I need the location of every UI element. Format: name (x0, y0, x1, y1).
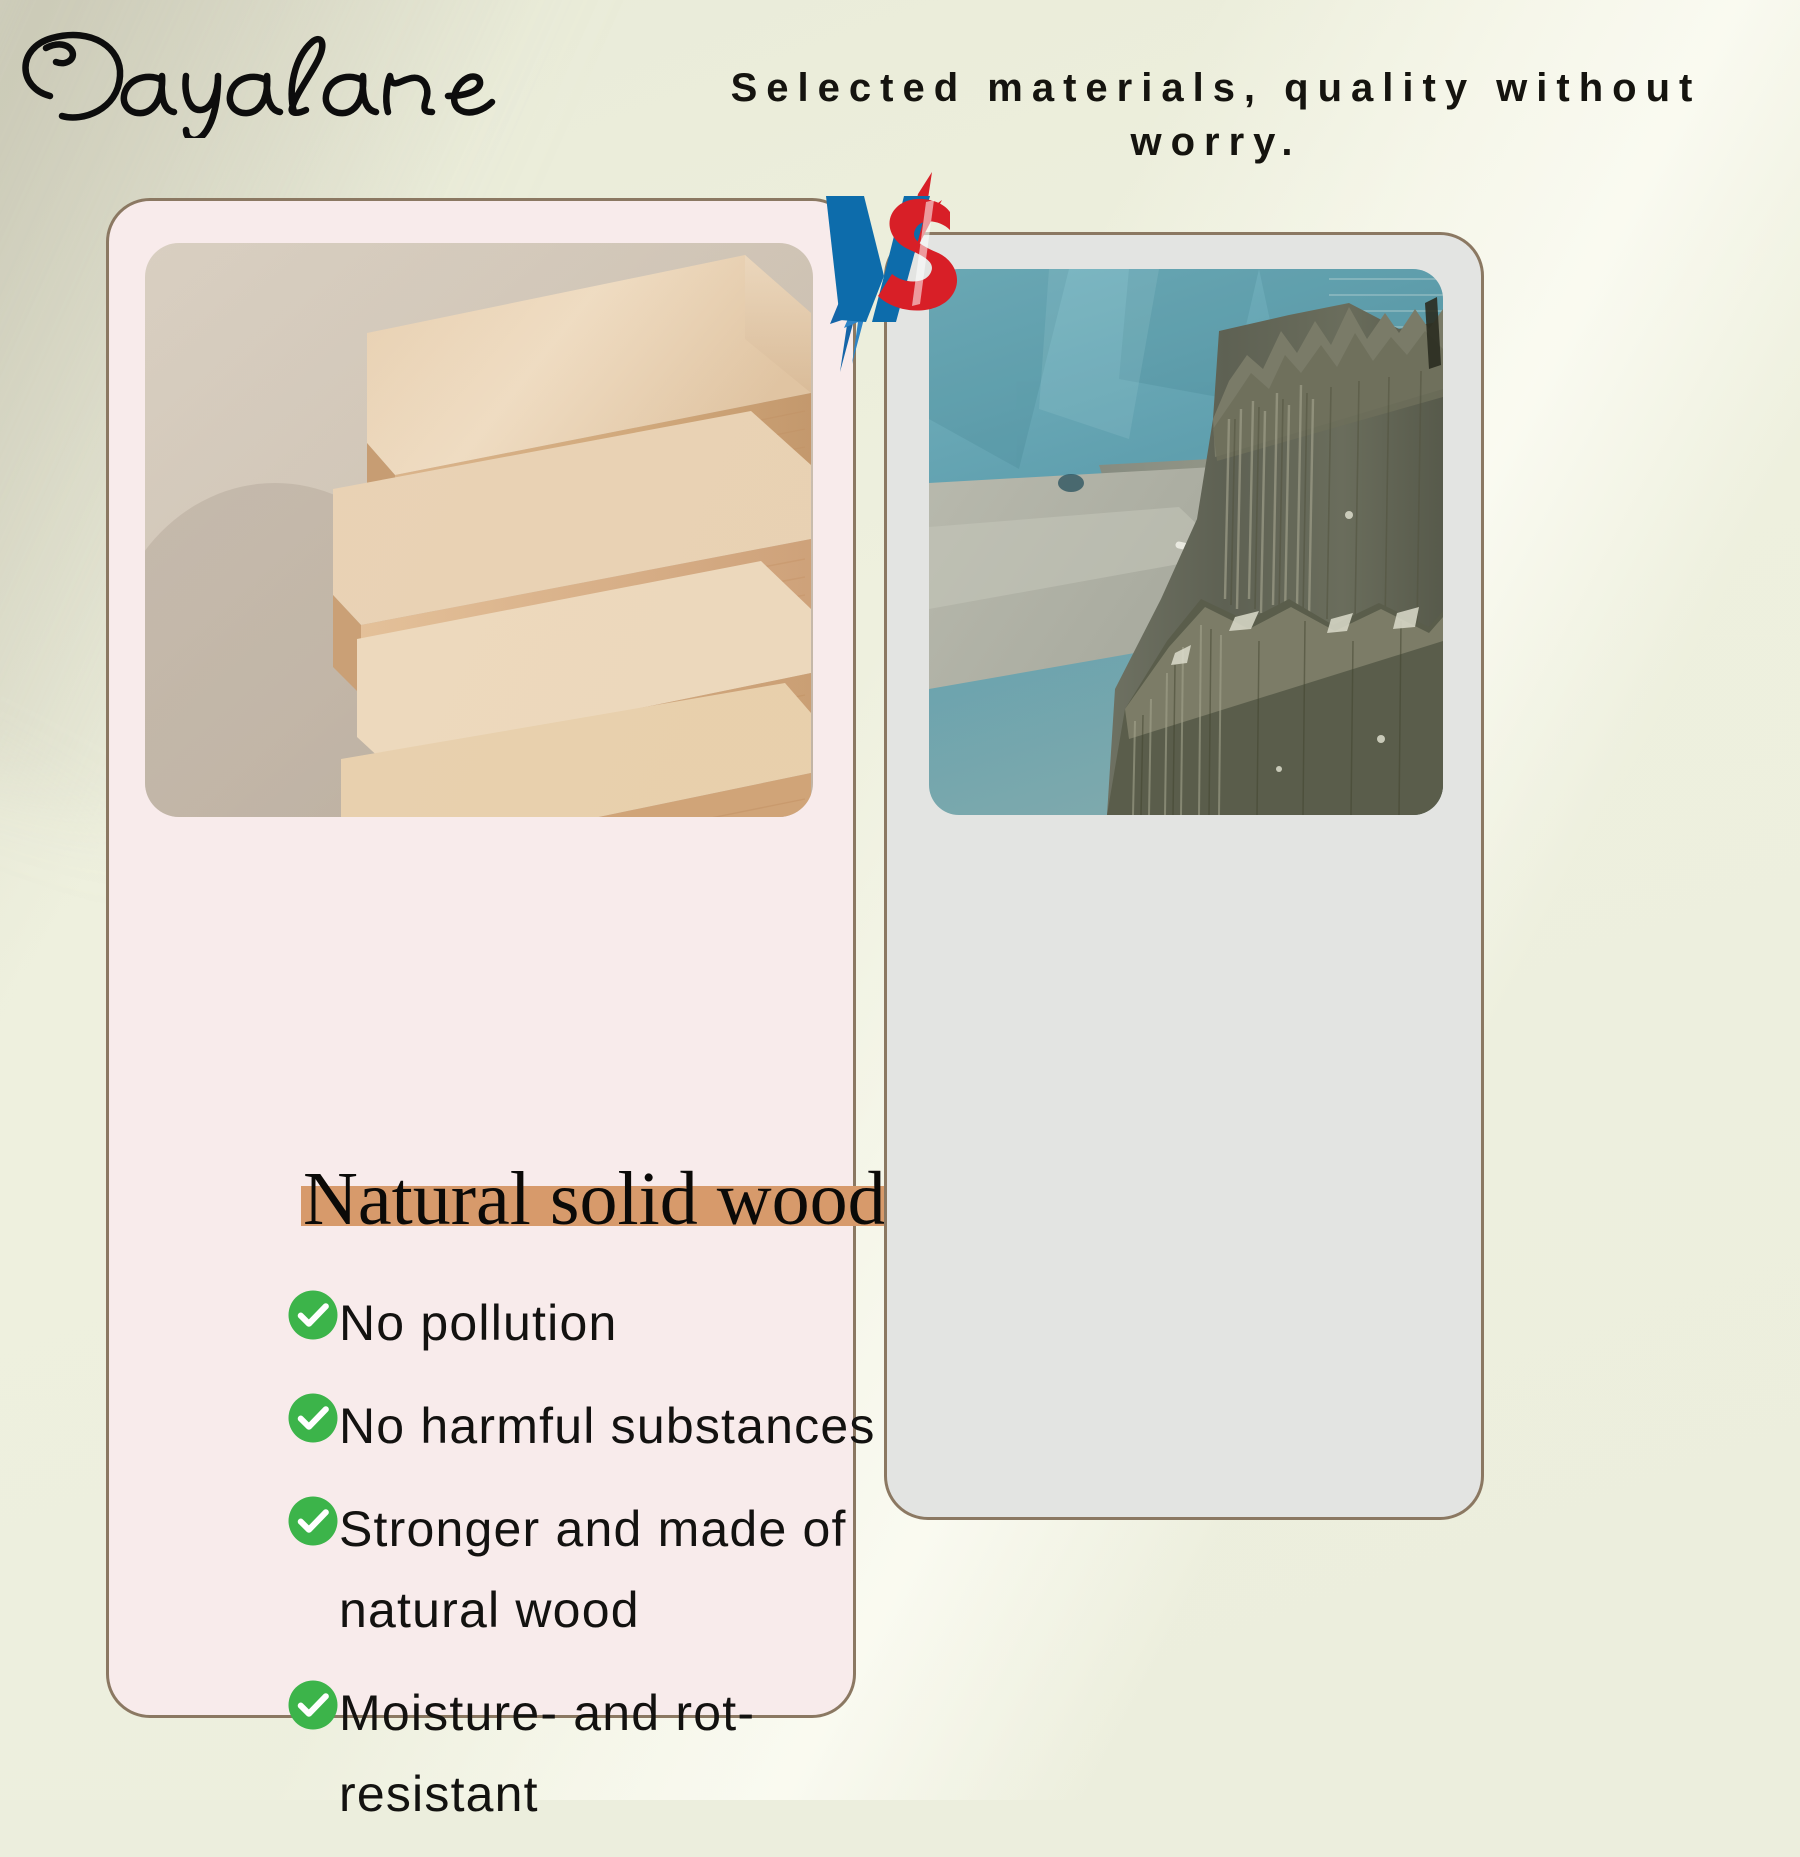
versus-lightning-badge-icon (800, 172, 980, 372)
green-check-circle-icon (285, 1390, 341, 1446)
comparison-card-synthetic-wood: Inferior synthetic woods • Fragile and p… (884, 232, 1484, 1520)
list-item-label: No pollution (339, 1283, 617, 1364)
list-item-label: Moisture- and rot-resistant (339, 1673, 945, 1835)
comparison-card-natural-wood: Natural solid wood No pollution No harmf… (106, 198, 856, 1718)
pros-list: No pollution No harmful substances Stron… (285, 1283, 945, 1857)
header-tagline: Selected materials, quality without worr… (640, 62, 1800, 169)
list-item-label: No harmful substances (339, 1386, 876, 1467)
list-item: No pollution (285, 1283, 945, 1364)
green-check-circle-icon (285, 1493, 341, 1549)
list-item: Stronger and made of natural wood (285, 1489, 945, 1651)
synthetic-wood-photo (929, 269, 1443, 815)
list-item: No harmful substances (285, 1386, 945, 1467)
list-item-label: Stronger and made of natural wood (339, 1489, 945, 1651)
list-item: Moisture- and rot-resistant (285, 1673, 945, 1835)
green-check-circle-icon (285, 1677, 341, 1733)
green-check-circle-icon (285, 1287, 341, 1343)
natural-wood-photo (145, 243, 813, 817)
brand-logo (10, 18, 530, 138)
card-title-natural-wood-text: Natural solid wood (301, 1156, 888, 1243)
card-title-natural-wood: Natural solid wood (301, 1156, 888, 1243)
